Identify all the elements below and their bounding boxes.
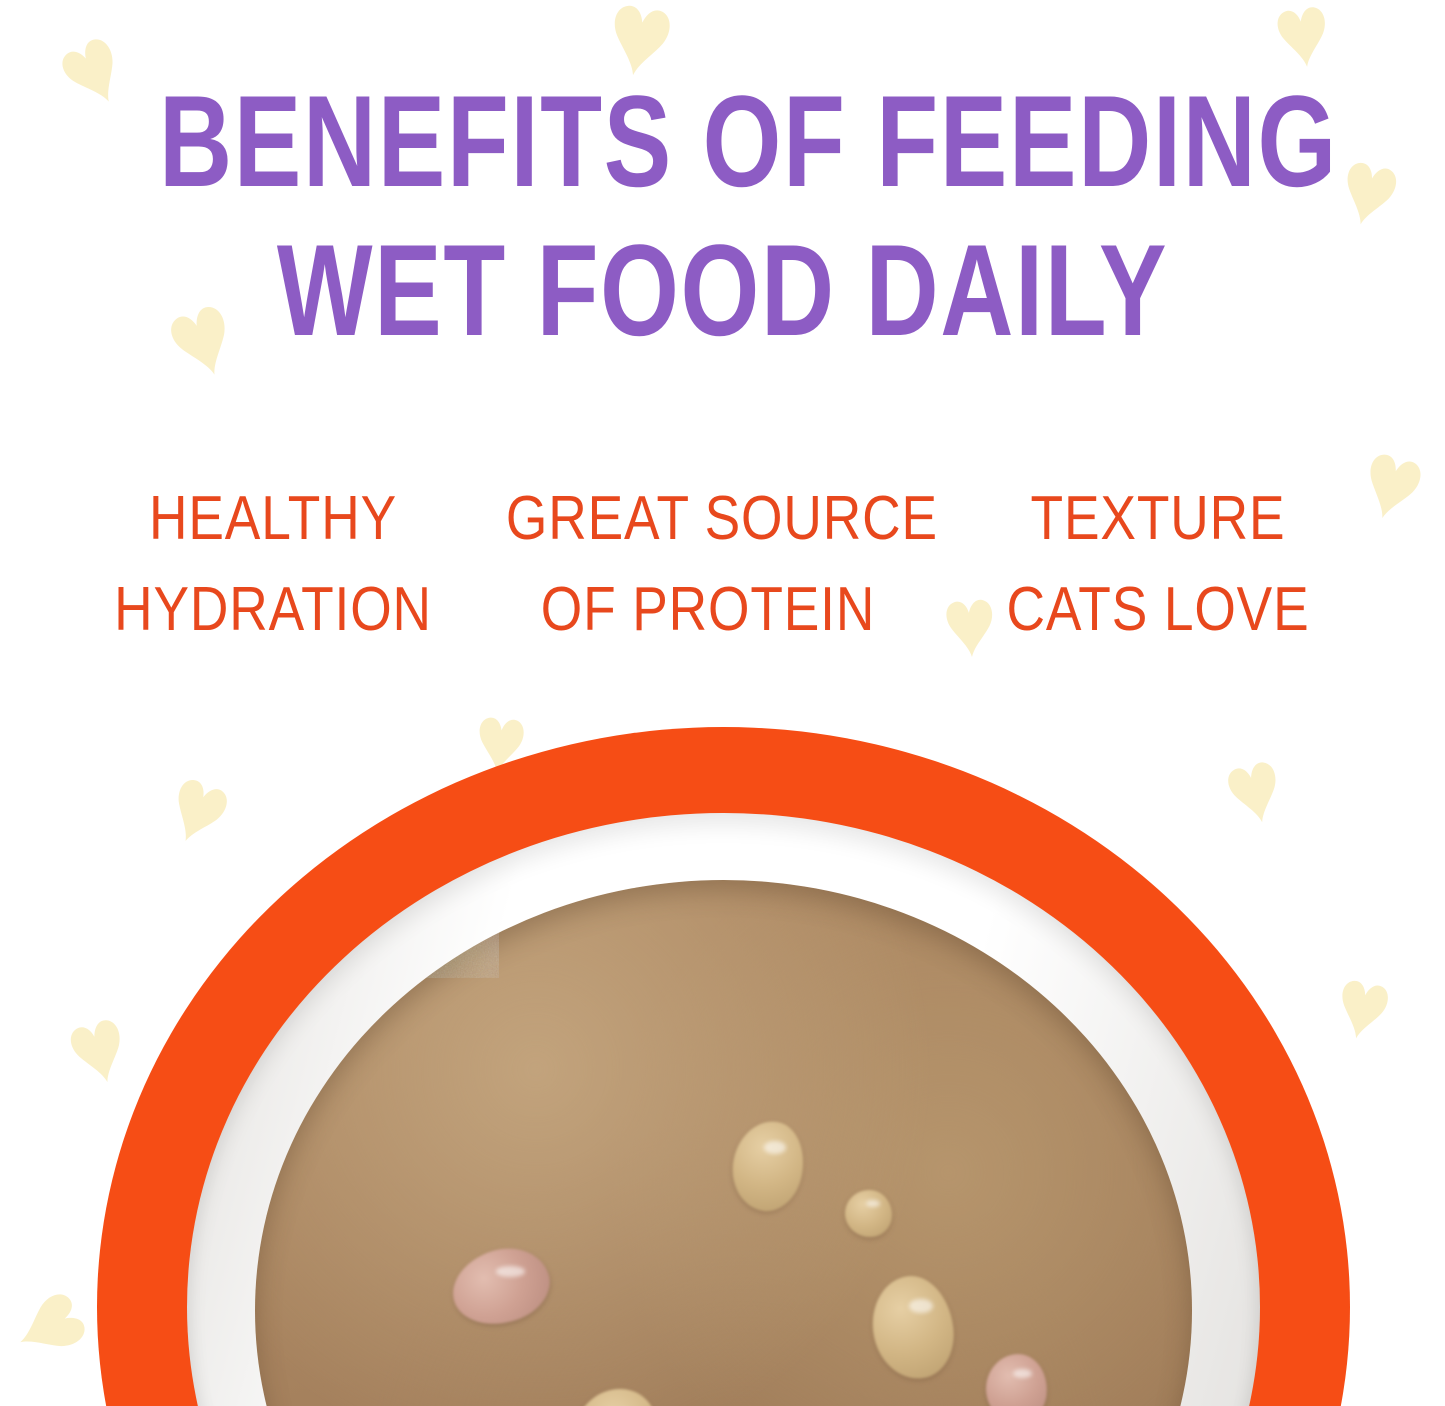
- benefit-3-line-1: TEXTURE: [973, 474, 1343, 565]
- food-chunk: [724, 1115, 812, 1218]
- food-chunk: [443, 1237, 559, 1337]
- headline-line-2: WET FOOD DAILY: [159, 227, 1286, 354]
- poster-root: BENEFITS OF FEEDING WET FOOD DAILY HEALT…: [0, 0, 1445, 1406]
- benefit-2-line-1: GREAT SOURCE: [505, 474, 909, 565]
- heart-icon: [1, 1280, 97, 1373]
- benefit-healthy-hydration: HEALTHY HYDRATION: [101, 474, 445, 655]
- benefit-1-line-1: HEALTHY: [101, 474, 445, 565]
- benefit-texture-cats-love: TEXTURE CATS LOVE: [973, 474, 1343, 655]
- food-chunk: [984, 1351, 1050, 1406]
- food-chunk-gloss: [1013, 1369, 1031, 1379]
- food-chunk: [867, 1271, 960, 1384]
- food-chunk: [560, 1376, 672, 1406]
- food-chunk-gloss: [496, 1266, 526, 1276]
- benefit-2-line-2: OF PROTEIN: [505, 565, 909, 656]
- cat-food-bowl-image: [97, 727, 1350, 1406]
- headline-line-1: BENEFITS OF FEEDING: [159, 78, 1286, 205]
- heart-icon: [1269, 0, 1338, 75]
- headline-block: BENEFITS OF FEEDING WET FOOD DAILY: [0, 78, 1445, 355]
- food-chunk-gloss: [764, 1141, 785, 1154]
- benefit-great-source-of-protein: GREAT SOURCE OF PROTEIN: [505, 474, 909, 655]
- food-grain-texture: [255, 880, 499, 978]
- benefit-3-line-2: CATS LOVE: [973, 565, 1343, 656]
- food-chunk: [845, 1190, 892, 1237]
- benefit-1-line-2: HYDRATION: [101, 565, 445, 656]
- benefits-row: HEALTHY HYDRATION GREAT SOURCE OF PROTEI…: [0, 474, 1445, 655]
